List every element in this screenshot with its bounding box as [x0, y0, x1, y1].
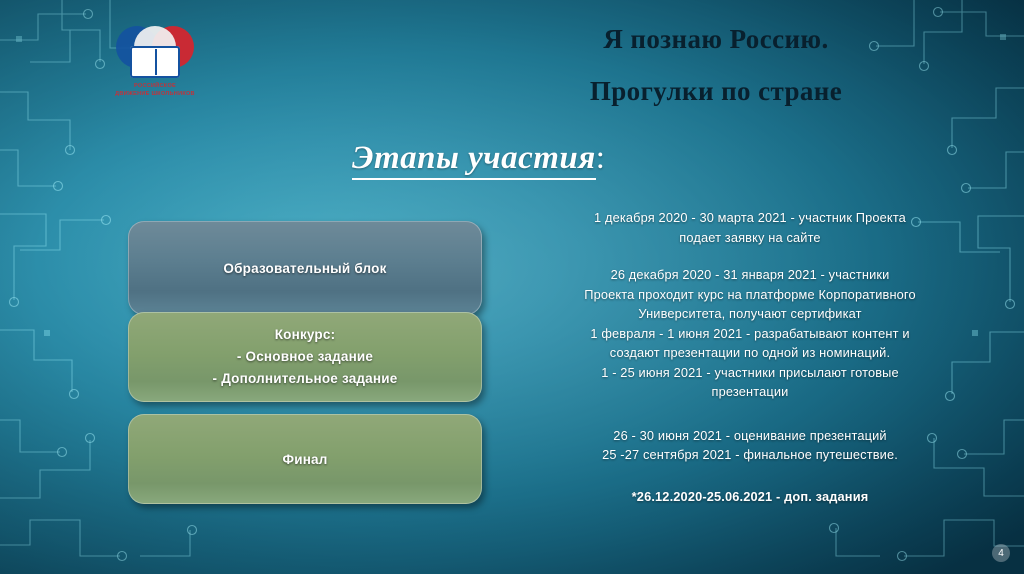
stage-p2-line3: Университета, получают сертификат: [500, 304, 1000, 324]
stage-p5-line1: 26 - 30 июня 2021 - оценивание презентац…: [500, 426, 1000, 446]
slide-title-line-1: Я познаю Россию.: [436, 22, 996, 56]
stage-p4-line1: 1 - 25 июня 2021 - участники присылают г…: [500, 363, 1000, 383]
stage-paragraph-5: 26 - 30 июня 2021 - оценивание презентац…: [500, 426, 1000, 465]
stages-description: 1 декабря 2020 - 30 марта 2021 - участни…: [500, 208, 1000, 506]
stage-box-final[interactable]: Финал: [128, 414, 482, 504]
stage-paragraph-1: 1 декабря 2020 - 30 марта 2021 - участни…: [500, 208, 1000, 247]
stage-p2-line2: Проекта проходит курс на платформе Корпо…: [500, 285, 1000, 305]
stage-box-contest-task-main: - Основное задание: [237, 346, 373, 368]
stage-p3-line2: создают презентации по одной из номинаци…: [500, 343, 1000, 363]
stage-box-final-label: Финал: [282, 452, 327, 467]
stage-box-contest[interactable]: Конкурс: - Основное задание - Дополнител…: [128, 312, 482, 402]
stage-paragraph-3: 1 февраля - 1 июня 2021 - разрабатывают …: [500, 324, 1000, 363]
logo-caption: РОССИЙСКОЕ ДВИЖЕНИЕ ШКОЛЬНИКОВ: [108, 82, 202, 98]
stage-paragraph-2: 26 декабря 2020 - 31 января 2021 - участ…: [500, 265, 1000, 324]
logo-book-icon: [130, 46, 180, 78]
section-heading: Этапы участия:: [352, 140, 605, 177]
logo-caption-line1: РОССИЙСКОЕ: [134, 83, 176, 89]
organization-logo: РОССИЙСКОЕ ДВИЖЕНИЕ ШКОЛЬНИКОВ: [108, 20, 202, 112]
stage-box-education[interactable]: Образовательный блок: [128, 221, 482, 315]
stage-p4-line2: презентации: [500, 382, 1000, 402]
slide-canvas: РОССИЙСКОЕ ДВИЖЕНИЕ ШКОЛЬНИКОВ Я познаю …: [0, 0, 1024, 574]
stage-paragraph-4: 1 - 25 июня 2021 - участники присылают г…: [500, 363, 1000, 402]
stage-p2-line1: 26 декабря 2020 - 31 января 2021 - участ…: [500, 265, 1000, 285]
stage-footnote: *26.12.2020-25.06.2021 - доп. задания: [500, 487, 1000, 507]
stage-box-contest-label: Конкурс:: [275, 324, 336, 346]
slide-title: Я познаю Россию. Прогулки по стране: [436, 22, 996, 108]
stage-p3-line1: 1 февраля - 1 июня 2021 - разрабатывают …: [500, 324, 1000, 344]
stage-p1-line2: подает заявку на сайте: [500, 228, 1000, 248]
stage-box-contest-task-extra: - Дополнительное задание: [213, 368, 398, 390]
logo-caption-line2: ДВИЖЕНИЕ ШКОЛЬНИКОВ: [115, 91, 195, 97]
section-heading-text: Этапы участия: [352, 140, 596, 180]
page-number-badge: 4: [992, 544, 1010, 562]
section-heading-colon: :: [596, 140, 606, 176]
slide-title-line-2: Прогулки по стране: [436, 74, 996, 108]
stage-p1-line1: 1 декабря 2020 - 30 марта 2021 - участни…: [500, 208, 1000, 228]
stage-box-education-label: Образовательный блок: [223, 261, 386, 276]
stage-p5-line2: 25 -27 сентября 2021 - финальное путешес…: [500, 445, 1000, 465]
